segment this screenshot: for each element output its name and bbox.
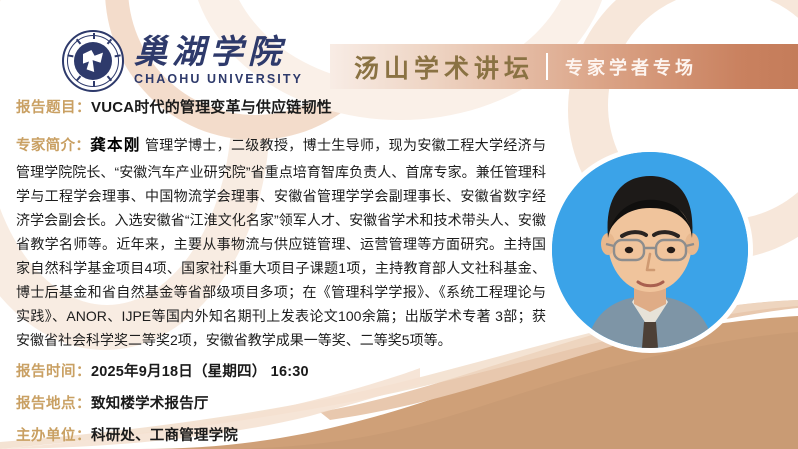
university-name-cn: 巢湖学院 [134, 36, 303, 71]
host-row: 主办单位： 科研处、工商管理学院 [16, 424, 238, 445]
bio-label: 专家简介： [16, 138, 90, 154]
time-row: 报告时间： 2025年9月18日（星期四） 16:30 [16, 360, 309, 381]
forum-title: 汤山学术讲坛 [354, 49, 534, 85]
topic-row: 报告题目： VUCA时代的管理变革与供应链韧性 [16, 96, 332, 117]
bio-body: 专家简介：龚本刚 管理学博士，二级教授，博士生导师，现为安徽工程大学经济与管理学… [16, 133, 546, 352]
place-value: 致知楼学术报告厅 [91, 392, 209, 413]
seal-emblem [74, 42, 112, 80]
place-row: 报告地点： 致知楼学术报告厅 [16, 392, 209, 413]
time-value: 2025年9月18日（星期四） 16:30 [91, 360, 309, 381]
university-logo: 巢湖学院 CHAOHU UNIVERSITY [62, 30, 303, 92]
speaker-portrait [552, 152, 748, 348]
university-wordmark: 巢湖学院 CHAOHU UNIVERSITY [134, 36, 303, 87]
time-label: 报告时间： [16, 360, 91, 381]
speaker-name: 龚本刚 [90, 137, 141, 154]
lecture-poster: 巢湖学院 CHAOHU UNIVERSITY 汤山学术讲坛 专家学者专场 报告题… [0, 0, 798, 449]
university-name-en: CHAOHU UNIVERSITY [134, 72, 303, 86]
place-label: 报告地点： [16, 392, 91, 413]
host-label: 主办单位： [16, 424, 91, 445]
host-value: 科研处、工商管理学院 [91, 424, 238, 445]
forum-banner: 汤山学术讲坛 专家学者专场 [330, 44, 798, 89]
poster-header: 巢湖学院 CHAOHU UNIVERSITY 汤山学术讲坛 专家学者专场 [0, 0, 798, 92]
portrait-illustration [552, 152, 748, 348]
topic-value: VUCA时代的管理变革与供应链韧性 [91, 96, 332, 117]
university-seal-icon [62, 30, 124, 92]
forum-subtitle: 专家学者专场 [565, 54, 697, 80]
bio-text: 管理学博士，二级教授，博士生导师，现为安徽工程大学经济与管理学院院长、“安徽汽车… [16, 137, 546, 348]
bio-row: 专家简介：龚本刚 管理学博士，二级教授，博士生导师，现为安徽工程大学经济与管理学… [16, 134, 546, 352]
banner-divider [546, 53, 548, 80]
topic-label: 报告题目： [16, 96, 91, 117]
